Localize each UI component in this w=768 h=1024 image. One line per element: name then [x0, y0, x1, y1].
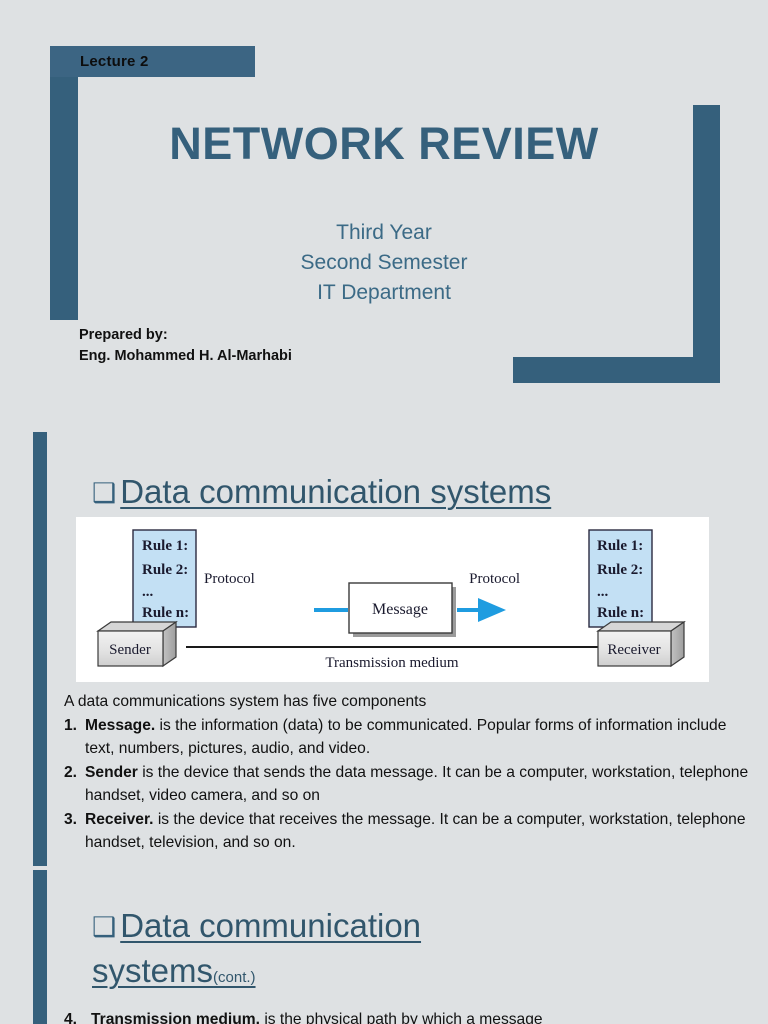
list-item-number: 4. [64, 1008, 77, 1024]
subtitle-line-year: Third Year [0, 218, 768, 248]
list-item-text: is the device that receives the message.… [85, 811, 746, 852]
slide-three-heading-suffix: (cont.) [213, 969, 256, 986]
svg-text:Rule n:: Rule n: [142, 605, 189, 621]
decor-right-vertical-bar [693, 105, 720, 383]
right-protocol-rules-box: Rule 1: Rule 2: ... Rule n: [589, 530, 652, 627]
checkbox-square-bullet-icon: ❑ [92, 471, 116, 515]
list-item-number: 3. [64, 808, 77, 832]
list-item-term: Message. [85, 717, 155, 734]
svg-text:Rule 2:: Rule 2: [142, 562, 188, 578]
svg-text:...: ... [142, 584, 154, 600]
slide-two-heading-text: Data communication systems [120, 473, 551, 510]
list-item: 4.Transmission medium. is the physical p… [64, 1008, 754, 1024]
svg-text:Rule 1:: Rule 1: [597, 538, 643, 554]
checkbox-square-bullet-icon: ❑ [92, 905, 116, 949]
svg-text:Receiver: Receiver [607, 642, 660, 658]
receiver-node: Receiver [598, 622, 684, 666]
decor-right-horizontal-bar [513, 357, 720, 383]
svg-text:Rule 2:: Rule 2: [597, 562, 643, 578]
list-item-term: Sender [85, 764, 138, 781]
list-item-term: Transmission medium. [91, 1011, 260, 1024]
data-communication-diagram-svg: Rule 1: Rule 2: ... Rule n: Protocol Rul… [76, 517, 709, 682]
page-title: NETWORK REVIEW [0, 118, 768, 170]
subtitle-line-semester: Second Semester [0, 248, 768, 278]
decor-side-bar [33, 870, 47, 1024]
slide-three-heading-text: Data communication systems [92, 907, 421, 989]
slide-two-heading: ❑Data communication systems [92, 470, 551, 515]
list-item-term: Receiver. [85, 811, 154, 828]
list-item-text: is the device that sends the data messag… [85, 764, 748, 805]
left-protocol-label: Protocol [204, 571, 255, 587]
svg-text:Rule n:: Rule n: [597, 605, 644, 621]
message-label: Message [372, 601, 428, 618]
slide-title: Lecture 2 NETWORK REVIEW Third Year Seco… [0, 0, 768, 432]
components-list: 1.Message. is the information (data) to … [64, 714, 754, 855]
prepared-by-block: Prepared by: Eng. Mohammed H. Al-Marhabi [79, 325, 292, 367]
subtitle-block: Third Year Second Semester IT Department [0, 218, 768, 308]
list-item-number: 1. [64, 714, 77, 738]
slide-two-body: A data communications system has five co… [64, 690, 754, 855]
list-item: 1.Message. is the information (data) to … [64, 714, 754, 761]
slide-three-body: 4.Transmission medium. is the physical p… [64, 1008, 754, 1024]
slide-data-communication-systems-cont: ❑Data communication systems(cont.) 4.Tra… [0, 866, 768, 1024]
prepared-by-name: Eng. Mohammed H. Al-Marhabi [79, 346, 292, 367]
transmission-medium-label: Transmission medium [325, 655, 459, 671]
slide-three-heading: ❑Data communication systems(cont.) [92, 904, 522, 1000]
right-protocol-label: Protocol [469, 571, 520, 587]
svg-text:Rule 1:: Rule 1: [142, 538, 188, 554]
list-item-text: is the information (data) to be communic… [85, 717, 726, 758]
slide-deck: Lecture 2 NETWORK REVIEW Third Year Seco… [0, 0, 768, 1024]
slide-data-communication-systems: ❑Data communication systems [0, 432, 768, 866]
subtitle-line-department: IT Department [0, 278, 768, 308]
list-item: 3.Receiver. is the device that receives … [64, 808, 754, 855]
svg-text:Sender: Sender [109, 642, 151, 658]
lecture-tag: Lecture 2 [80, 53, 149, 70]
list-item-number: 2. [64, 761, 77, 785]
list-item-text: is the physical path by which a message [260, 1011, 543, 1024]
svg-text:...: ... [597, 584, 609, 600]
list-item: 2.Sender is the device that sends the da… [64, 761, 754, 808]
components-list-cont: 4.Transmission medium. is the physical p… [64, 1008, 754, 1024]
body-lead-line: A data communications system has five co… [64, 690, 754, 714]
prepared-by-label: Prepared by: [79, 325, 292, 346]
sender-node: Sender [98, 622, 176, 666]
decor-side-bar [33, 432, 47, 866]
data-communication-figure: Rule 1: Rule 2: ... Rule n: Protocol Rul… [76, 517, 709, 682]
left-protocol-rules-box: Rule 1: Rule 2: ... Rule n: [133, 530, 196, 627]
